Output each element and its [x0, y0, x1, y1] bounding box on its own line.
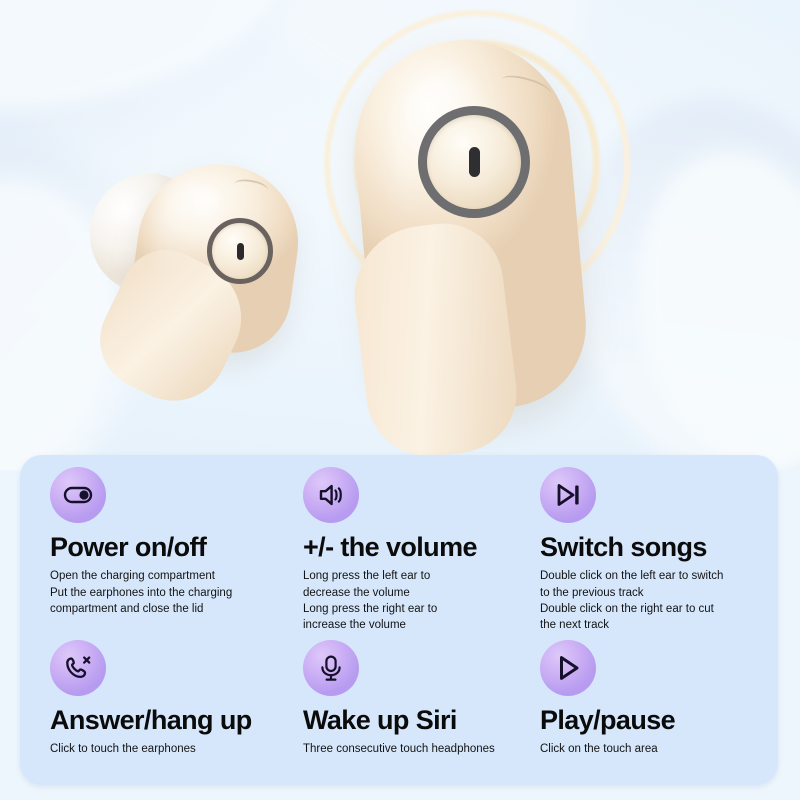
feature-title: Play/pause	[540, 706, 778, 734]
phone-hangup-icon	[50, 640, 106, 696]
small-earbud-mic-slot	[237, 243, 244, 260]
feature-description: Three consecutive touch headphones	[303, 741, 541, 757]
feature-power-on-off: Power on/off Open the charging compartme…	[50, 467, 288, 617]
feature-wake-up-siri: Wake up Siri Three consecutive touch hea…	[303, 640, 541, 758]
feature-description: Long press the left ear to decrease the …	[303, 568, 541, 633]
product-infographic: Power on/off Open the charging compartme…	[0, 0, 800, 800]
microphone-icon	[303, 640, 359, 696]
skip-next-icon	[540, 467, 596, 523]
features-grid: Power on/off Open the charging compartme…	[20, 455, 778, 785]
feature-description: Double click on the left ear to switch t…	[540, 568, 778, 633]
large-earbud-touch-sensor	[418, 106, 530, 218]
feature-title: Switch songs	[540, 533, 778, 561]
small-earbud-touch-sensor	[207, 218, 273, 284]
feature-volume: +/- the volume Long press the left ear t…	[303, 467, 541, 634]
feature-play-pause: Play/pause Click on the touch area	[540, 640, 778, 758]
large-earbud	[352, 40, 590, 450]
product-photo	[0, 0, 800, 470]
volume-speaker-icon	[303, 467, 359, 523]
feature-title: Answer/hang up	[50, 706, 288, 734]
feature-title: Power on/off	[50, 533, 288, 561]
feature-title: Wake up Siri	[303, 706, 541, 734]
power-toggle-icon	[50, 467, 106, 523]
features-panel: Power on/off Open the charging compartme…	[20, 455, 778, 785]
feature-description: Click on the touch area	[540, 741, 778, 757]
large-earbud-mic-slot	[469, 147, 480, 177]
play-icon	[540, 640, 596, 696]
feature-description: Open the charging compartment Put the ea…	[50, 568, 288, 617]
small-earbud	[88, 160, 318, 400]
feature-description: Click to touch the earphones	[50, 741, 288, 757]
feature-answer-hang-up: Answer/hang up Click to touch the earpho…	[50, 640, 288, 758]
feature-title: +/- the volume	[303, 533, 541, 561]
feature-switch-songs: Switch songs Double click on the left ea…	[540, 467, 778, 634]
